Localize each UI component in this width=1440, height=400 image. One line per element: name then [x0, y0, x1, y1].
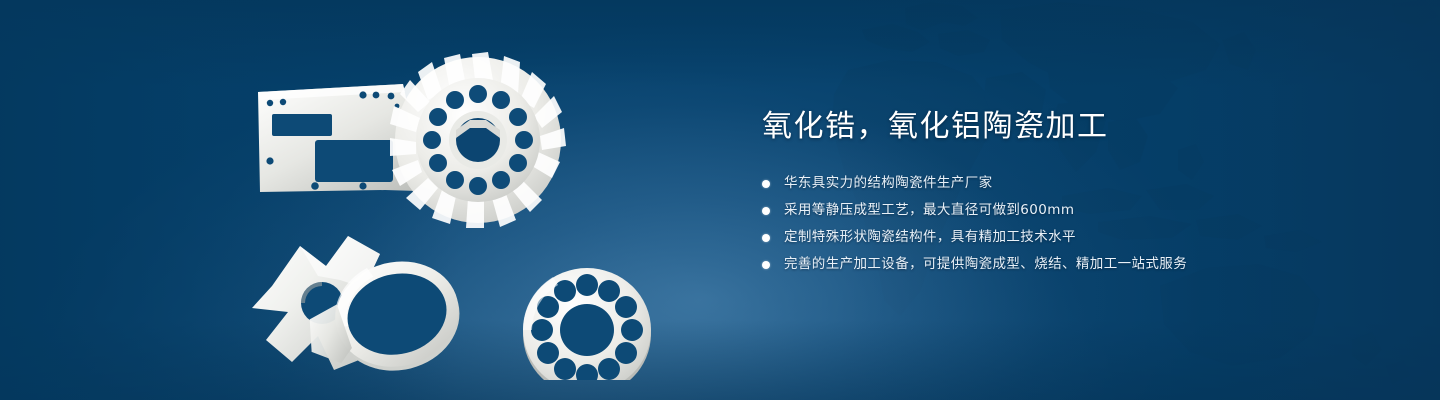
- feature-text: 完善的生产加工设备，可提供陶瓷成型、烧结、精加工一站式服务: [784, 258, 1187, 272]
- feature-text: 华东具实力的结构陶瓷件生产厂家: [784, 177, 993, 191]
- bullet-dot-icon: [762, 207, 770, 215]
- feature-list: 华东具实力的结构陶瓷件生产厂家 采用等静压成型工艺，最大直径可做到600mm 定…: [762, 174, 1382, 276]
- feature-text: 定制特殊形状陶瓷结构件，具有精加工技术水平: [784, 231, 1076, 245]
- list-item: 采用等静压成型工艺，最大直径可做到600mm: [762, 201, 1382, 222]
- list-item: 定制特殊形状陶瓷结构件，具有精加工技术水平: [762, 228, 1382, 249]
- ceramic-perforated-disc-part: [523, 268, 651, 380]
- banner-copy: 氧化锆，氧化铝陶瓷加工 华东具实力的结构陶瓷件生产厂家 采用等静压成型工艺，最大…: [762, 108, 1382, 282]
- bullet-dot-icon: [762, 234, 770, 242]
- ceramic-products-image: [230, 40, 700, 380]
- ceramic-impeller-part: [390, 52, 566, 228]
- bullet-dot-icon: [762, 180, 770, 188]
- list-item: 华东具实力的结构陶瓷件生产厂家: [762, 174, 1382, 195]
- hero-banner: 氧化锆，氧化铝陶瓷加工 华东具实力的结构陶瓷件生产厂家 采用等静压成型工艺，最大…: [0, 0, 1440, 400]
- bullet-dot-icon: [762, 261, 770, 269]
- feature-text: 采用等静压成型工艺，最大直径可做到600mm: [784, 204, 1074, 218]
- banner-headline: 氧化锆，氧化铝陶瓷加工: [762, 108, 1382, 146]
- list-item: 完善的生产加工设备，可提供陶瓷成型、烧结、精加工一站式服务: [762, 255, 1382, 276]
